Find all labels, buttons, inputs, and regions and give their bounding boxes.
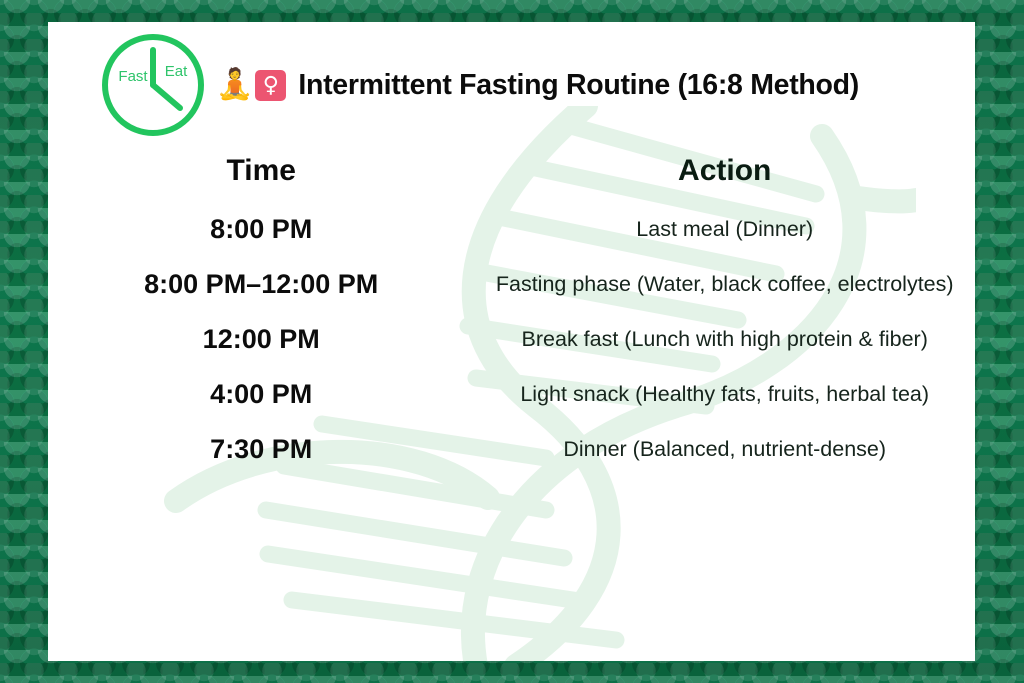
cell-time: 4:00 PM <box>48 367 474 422</box>
cell-time: 8:00 PM <box>48 202 474 257</box>
table-row: 12:00 PM Break fast (Lunch with high pro… <box>48 312 975 367</box>
column-header-action: Action <box>474 148 975 202</box>
cell-action: Last meal (Dinner) <box>474 202 975 257</box>
cell-action: Dinner (Balanced, nutrient-dense) <box>474 422 975 477</box>
clock-eat-label: Eat <box>165 63 188 80</box>
column-header-time: Time <box>48 148 474 202</box>
cell-action: Light snack (Healthy fats, fruits, herba… <box>474 367 975 422</box>
table-header-row: Time Action <box>48 148 975 202</box>
cell-time: 8:00 PM–12:00 PM <box>48 257 474 312</box>
cell-action: Break fast (Lunch with high protein & fi… <box>474 312 975 367</box>
content-card: Fast Eat 🧘 ♀ Intermittent Fasting Routin… <box>48 22 975 661</box>
person-lotus-position-icon: 🧘 <box>216 70 253 100</box>
routine-table: Time Action 8:00 PM Last meal (Dinner) 8… <box>48 148 975 477</box>
table-row: 4:00 PM Light snack (Healthy fats, fruit… <box>48 367 975 422</box>
clock-fast-label: Fast <box>118 68 148 85</box>
cell-action: Fasting phase (Water, black coffee, elec… <box>474 257 975 312</box>
cell-time: 12:00 PM <box>48 312 474 367</box>
cell-time: 7:30 PM <box>48 422 474 477</box>
page-title: Intermittent Fasting Routine (16:8 Metho… <box>298 69 859 102</box>
fast-eat-clock-icon: Fast Eat <box>96 28 210 142</box>
table-row: 7:30 PM Dinner (Balanced, nutrient-dense… <box>48 422 975 477</box>
female-sign-icon: ♀ <box>255 70 286 101</box>
table-row: 8:00 PM Last meal (Dinner) <box>48 202 975 257</box>
header: Fast Eat 🧘 ♀ Intermittent Fasting Routin… <box>48 22 975 140</box>
poster-background: Fast Eat 🧘 ♀ Intermittent Fasting Routin… <box>0 0 1024 683</box>
table-row: 8:00 PM–12:00 PM Fasting phase (Water, b… <box>48 257 975 312</box>
